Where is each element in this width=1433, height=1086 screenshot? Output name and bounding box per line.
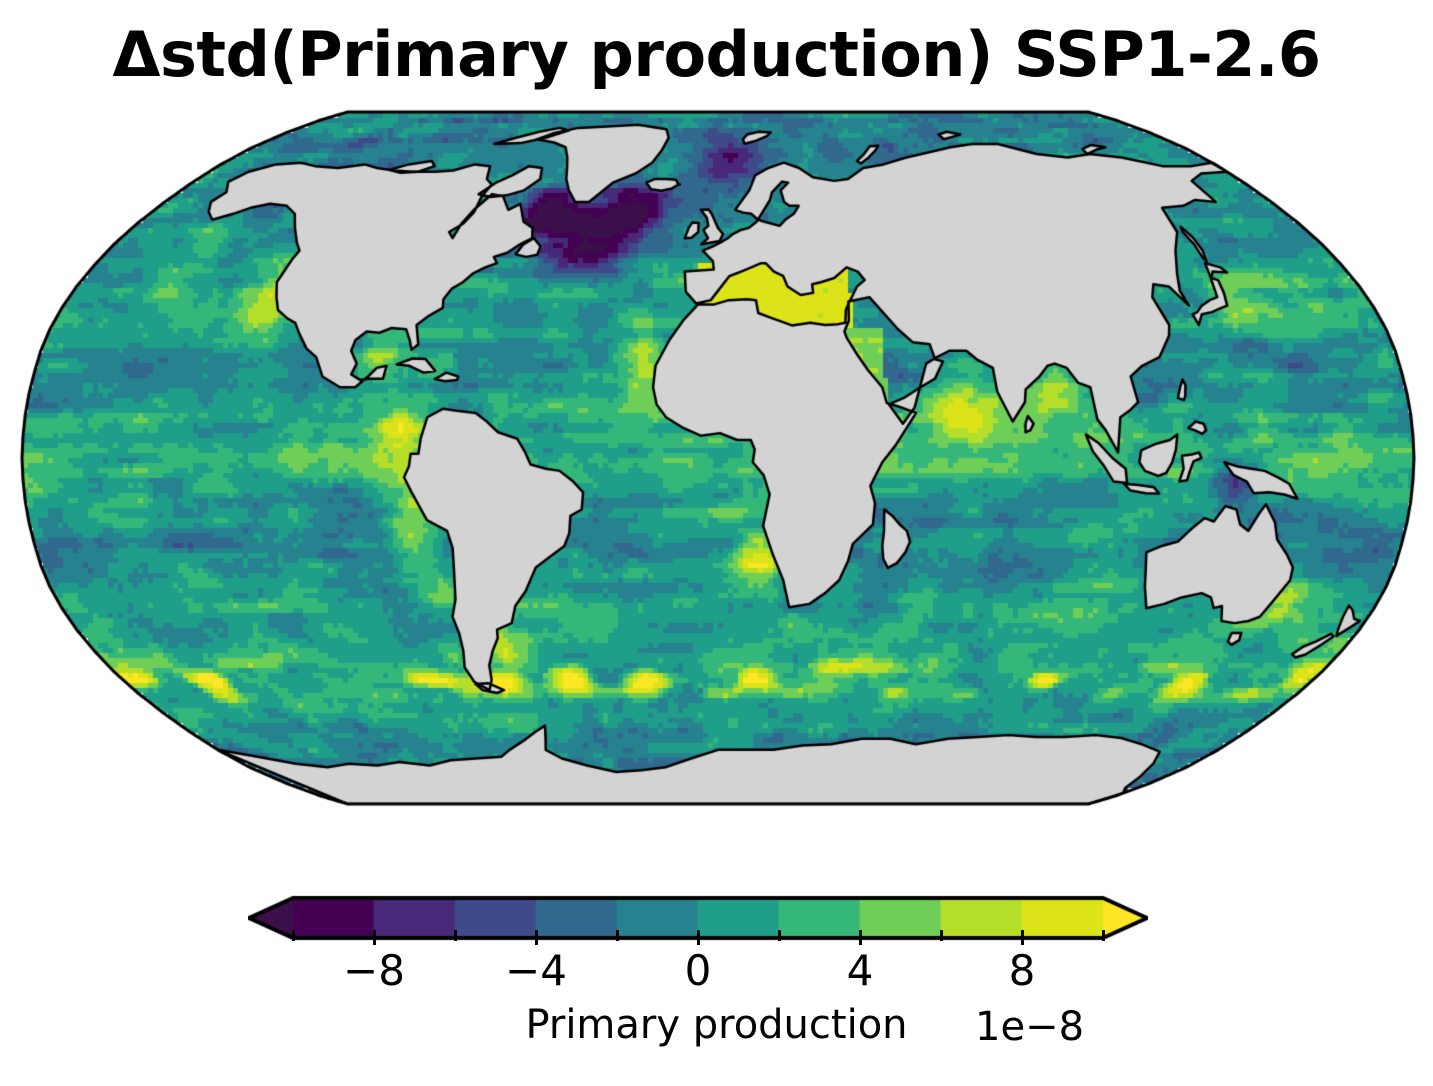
colorbar-tick-label: −8 (343, 946, 405, 995)
colorbar-tick (292, 930, 295, 941)
global-map-heatmap (18, 108, 1418, 808)
colorbar-tick-label: 8 (1009, 946, 1036, 995)
colorbar-ticklabels: −8−4048 (248, 946, 1148, 996)
colorbar-tick (616, 930, 619, 941)
colorbar-offset-text: 1e−8 (975, 1004, 1084, 1050)
colorbar-tick-label: 0 (685, 946, 712, 995)
colorbar-tick (940, 930, 943, 941)
colorbar-tick (1102, 930, 1105, 941)
map-panel (18, 108, 1418, 808)
colorbar-tick (778, 930, 781, 941)
colorbar-axis-label: Primary production (0, 1002, 1433, 1048)
figure-canvas: Δstd(Primary production) SSP1-2.6 −8−404… (0, 0, 1433, 1086)
colorbar-tick (454, 930, 457, 941)
colorbar-tick (697, 930, 700, 945)
colorbar-tick (859, 930, 862, 945)
colorbar-tick (1021, 930, 1024, 945)
colorbar-tick (535, 930, 538, 945)
colorbar-tick (373, 930, 376, 945)
colorbar-tick-label: −4 (505, 946, 567, 995)
colorbar-tick-label: 4 (847, 946, 874, 995)
figure-title: Δstd(Primary production) SSP1-2.6 (0, 18, 1433, 91)
